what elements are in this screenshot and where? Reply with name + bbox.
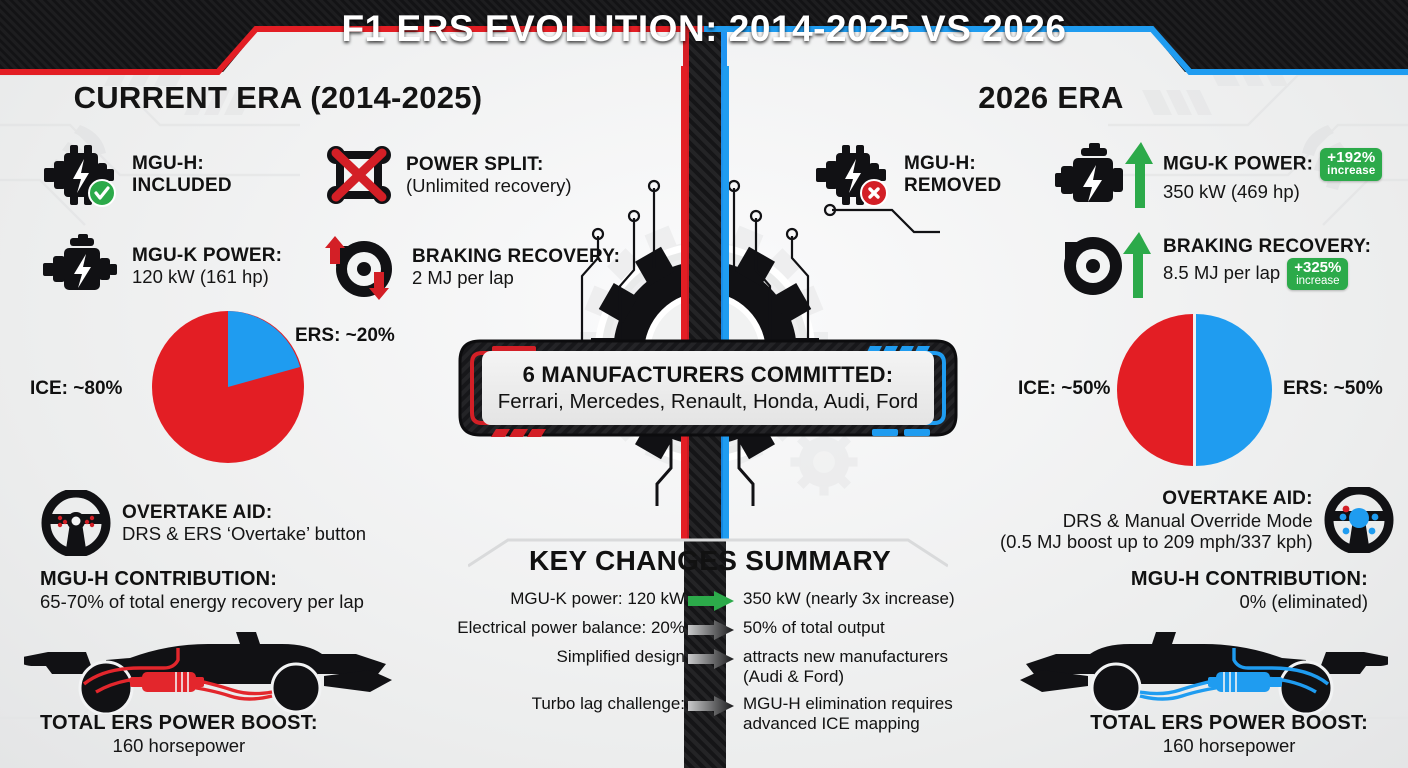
pie-chart-2026-era bbox=[1113, 310, 1273, 470]
row-right: MGU-H elimination requires advanced ICE … bbox=[737, 692, 990, 734]
mguh-contribution-title: MGU-H CONTRIBUTION: bbox=[40, 568, 364, 591]
green-right-arrow-icon bbox=[685, 587, 737, 611]
key-changes-rows: MGU-K power: 120 kW 350 kW (nearly 3x in… bbox=[430, 587, 990, 734]
manufacturers-box: 6 MANUFACTURERS COMMITTED: Ferrari, Merc… bbox=[452, 333, 964, 443]
f1-car-red-icon bbox=[24, 630, 394, 714]
total-boost-value: 160 horsepower bbox=[40, 735, 318, 757]
f1-car-blue-icon bbox=[1010, 630, 1388, 714]
dark-right-arrow-icon bbox=[685, 645, 737, 669]
mguh-contribution-value: 65-70% of total energy recovery per lap bbox=[40, 591, 364, 613]
key-changes-summary: KEY CHANGES SUMMARY MGU-K power: 120 kW … bbox=[430, 545, 990, 739]
key-changes-row: Simplified design attracts new manufactu… bbox=[430, 645, 990, 687]
manufacturers-line1: 6 MANUFACTURERS COMMITTED: bbox=[523, 362, 894, 388]
manufacturers-inner: 6 MANUFACTURERS COMMITTED: Ferrari, Merc… bbox=[482, 351, 934, 425]
total-boost-right: TOTAL ERS POWER BOOST: 160 horsepower bbox=[1090, 712, 1368, 757]
page-title: F1 ERS EVOLUTION: 2014-2025 VS 2026 bbox=[0, 8, 1408, 50]
key-changes-title: KEY CHANGES SUMMARY bbox=[430, 545, 990, 577]
key-changes-row: MGU-K power: 120 kW 350 kW (nearly 3x in… bbox=[430, 587, 990, 611]
mguh-contribution-value: 0% (eliminated) bbox=[1131, 591, 1368, 613]
row-right: attracts new manufacturers (Audi & Ford) bbox=[737, 645, 990, 687]
total-boost-title: TOTAL ERS POWER BOOST: bbox=[40, 712, 318, 735]
mguh-contribution-title: MGU-H CONTRIBUTION: bbox=[1131, 568, 1368, 591]
mguh-contribution-right: MGU-H CONTRIBUTION: 0% (eliminated) bbox=[1131, 568, 1368, 613]
mguh-contribution-left: MGU-H CONTRIBUTION: 65-70% of total ener… bbox=[40, 568, 364, 613]
dark-right-arrow-icon bbox=[685, 616, 737, 640]
left-era-title: CURRENT ERA (2014-2025) bbox=[0, 80, 618, 116]
row-left: Electrical power balance: 20% bbox=[430, 616, 685, 638]
dark-right-arrow-icon bbox=[685, 692, 737, 716]
total-boost-left: TOTAL ERS POWER BOOST: 160 horsepower bbox=[40, 712, 318, 757]
key-changes-row: Turbo lag challenge: MGU-H elimination r… bbox=[430, 692, 990, 734]
key-changes-row: Electrical power balance: 20% 50% of tot… bbox=[430, 616, 990, 640]
row-right: 50% of total output bbox=[737, 616, 990, 638]
row-right: 350 kW (nearly 3x increase) bbox=[737, 587, 990, 609]
manufacturers-line2: Ferrari, Mercedes, Renault, Honda, Audi,… bbox=[498, 390, 918, 414]
row-left: Simplified design bbox=[430, 645, 685, 667]
total-boost-value: 160 horsepower bbox=[1090, 735, 1368, 757]
pie-chart-current-era bbox=[148, 307, 308, 467]
total-boost-title: TOTAL ERS POWER BOOST: bbox=[1090, 712, 1368, 735]
row-left: Turbo lag challenge: bbox=[430, 692, 685, 714]
right-era-title: 2026 ERA bbox=[712, 80, 1390, 116]
infographic-stage: F1 ERS EVOLUTION: 2014-2025 VS 2026 CURR… bbox=[0, 0, 1408, 768]
row-left: MGU-K power: 120 kW bbox=[430, 587, 685, 609]
